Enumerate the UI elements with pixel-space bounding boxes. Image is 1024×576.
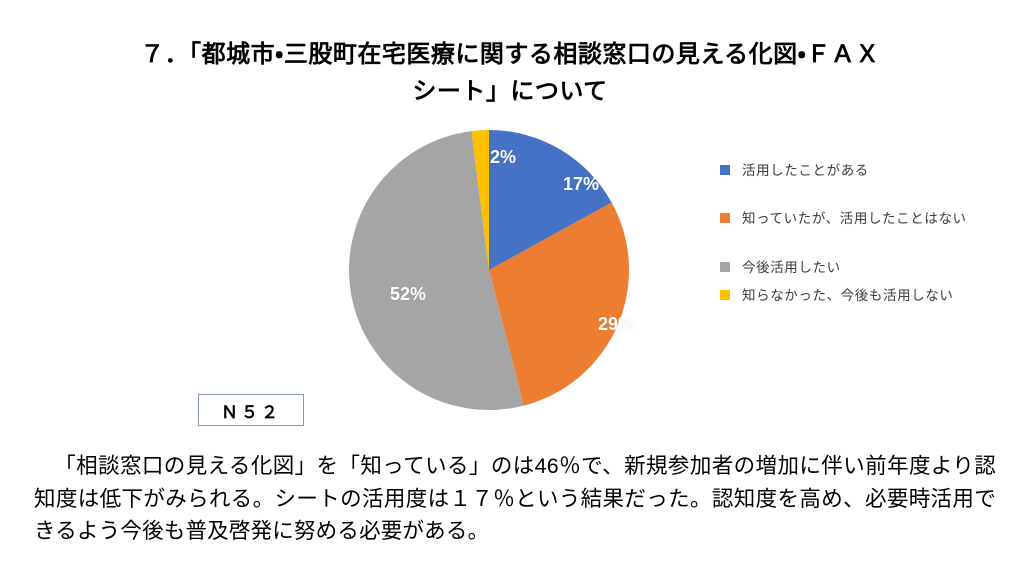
legend-item-katsuyou-shita[interactable]: 活用したことがある — [720, 160, 1010, 182]
pie-chart: 17% 29% 52% 2% 活用したことがある 知っていたが、活用したことはな… — [310, 118, 1010, 428]
legend-item-label: 知っていたが、活用したことはない — [742, 208, 1010, 230]
sample-size-label: Ｎ５２ — [221, 398, 281, 423]
page-title: ７．「都城市・三股町在宅医療に関する相談窓口の見える化図・ＦＡＸ シート」につい… — [70, 36, 950, 110]
legend-item-label: 知らなかった、今後も活用しない — [742, 285, 1010, 307]
legend-item-shitteita-ga[interactable]: 知っていたが、活用したことはない — [720, 208, 1010, 230]
body-paragraph-text: 「相談窓口の見える化図」を「知っている」のは46％で、新規参加者の増加に伴い前年… — [34, 454, 996, 543]
legend-item-label: 活用したことがある — [742, 160, 1010, 182]
sample-size-badge: Ｎ５２ — [198, 394, 304, 426]
page-title-line-1: ７．「都城市・三股町在宅医療に関する相談窓口の見える化図・ＦＡＸ — [70, 36, 950, 73]
slide-canvas: ７．「都城市・三股町在宅医療に関する相談窓口の見える化図・ＦＡＸ シート」につい… — [0, 0, 1024, 576]
chart-legend: 活用したことがある 知っていたが、活用したことはない 今後活用したい 知らなかっ… — [720, 160, 1010, 339]
legend-swatch-gray — [720, 262, 730, 272]
legend-swatch-orange — [720, 213, 730, 223]
legend-item-shiranakatta[interactable]: 知らなかった、今後も活用しない — [720, 285, 1010, 307]
legend-swatch-blue — [720, 165, 730, 175]
body-paragraph: 「相談窓口の見える化図」を「知っている」のは46％で、新規参加者の増加に伴い前年… — [34, 450, 996, 548]
page-title-line-2: シート」について — [70, 73, 950, 110]
legend-item-kongo-katsuyou[interactable]: 今後活用したい — [720, 257, 1010, 279]
legend-swatch-yellow — [720, 290, 730, 300]
legend-item-label: 今後活用したい — [742, 257, 1010, 279]
pie-chart-graphic: 17% 29% 52% 2% — [348, 129, 630, 411]
